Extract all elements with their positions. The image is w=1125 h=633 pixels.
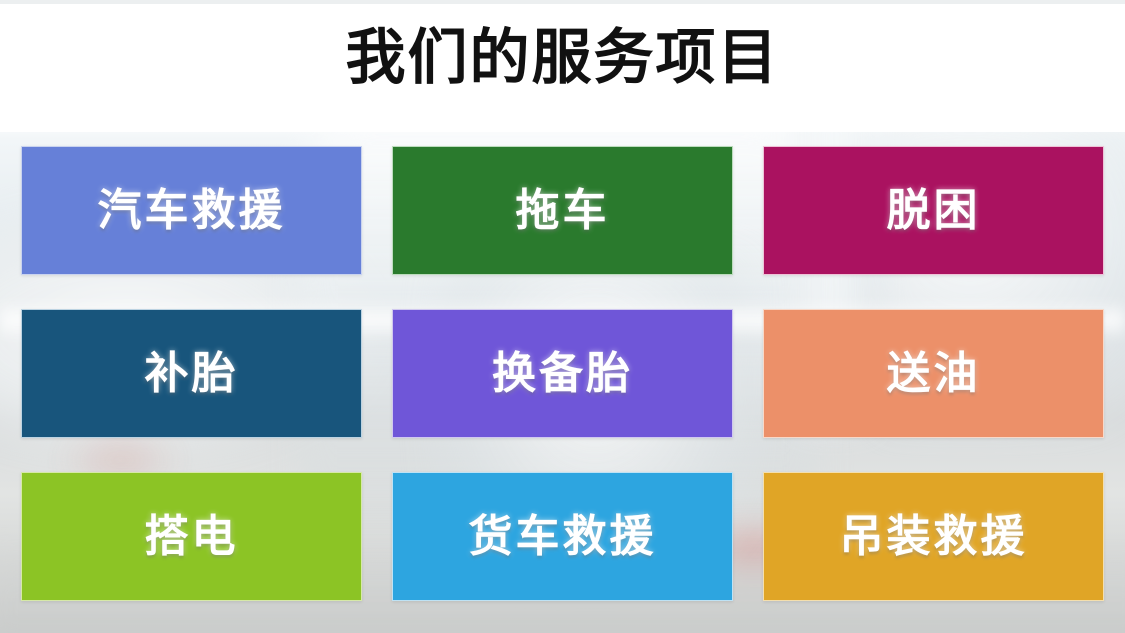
service-list-poster: 我们的服务项目 汽车救援 拖车 脱困 补胎 换备胎 送油 搭电 货车救援 吊装救… — [0, 0, 1125, 633]
background-top-edge-line — [0, 0, 1125, 4]
service-tile-songyou[interactable]: 送油 — [763, 309, 1104, 438]
service-tile-label: 补胎 — [145, 352, 239, 396]
service-tile-butai[interactable]: 补胎 — [21, 309, 362, 438]
service-tile-dadian[interactable]: 搭电 — [21, 472, 362, 601]
service-tile-huanbeitai[interactable]: 换备胎 — [392, 309, 733, 438]
service-tile-huochejiuyuan[interactable]: 货车救援 — [392, 472, 733, 601]
page-title: 我们的服务项目 — [0, 22, 1125, 94]
service-tile-diaozhuangjiuyuan[interactable]: 吊装救援 — [763, 472, 1104, 601]
service-tile-label: 吊装救援 — [840, 515, 1028, 559]
service-tile-label: 汽车救援 — [98, 189, 286, 233]
service-tile-grid: 汽车救援 拖车 脱困 补胎 换备胎 送油 搭电 货车救援 吊装救援 — [21, 146, 1087, 601]
service-tile-label: 脱困 — [887, 189, 981, 233]
service-tile-label: 拖车 — [516, 189, 610, 233]
service-tile-label: 送油 — [887, 352, 981, 396]
service-tile-tuoche[interactable]: 拖车 — [392, 146, 733, 275]
service-tile-qichejiuyuan[interactable]: 汽车救援 — [21, 146, 362, 275]
service-tile-label: 货车救援 — [469, 515, 657, 559]
service-tile-label: 换备胎 — [492, 352, 633, 396]
service-tile-tuokun[interactable]: 脱困 — [763, 146, 1104, 275]
service-tile-label: 搭电 — [145, 515, 239, 559]
